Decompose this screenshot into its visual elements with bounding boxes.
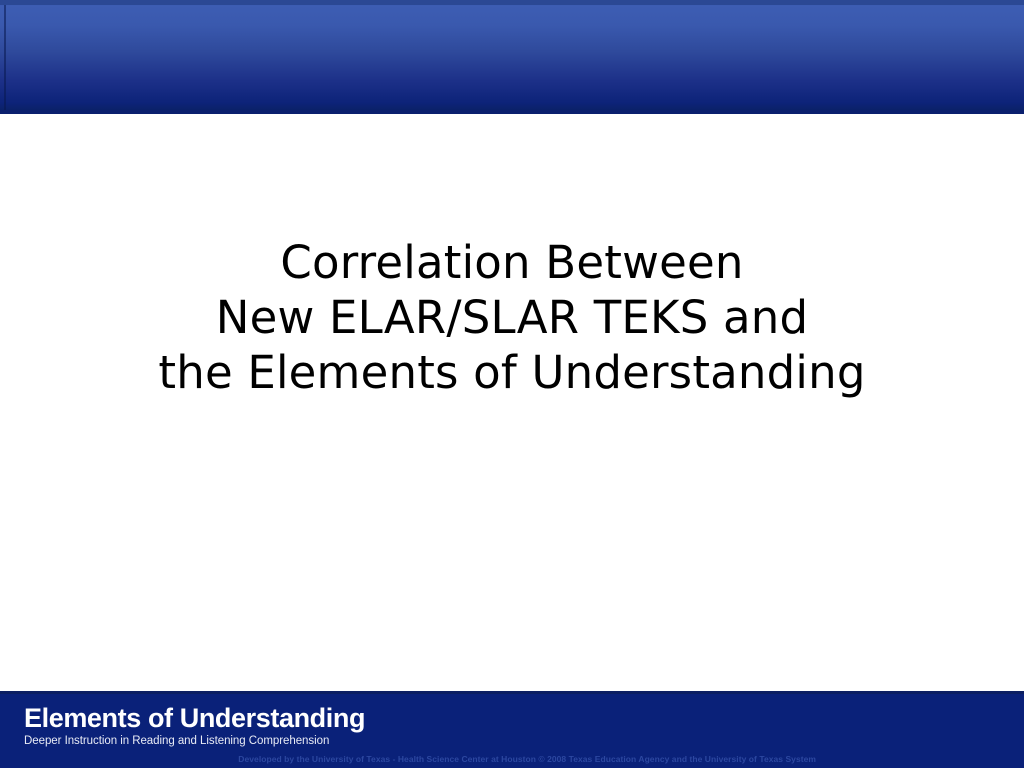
- slide-title-line-3: the Elements of Understanding: [0, 346, 1024, 401]
- slide-footer-band: Elements of Understanding Deeper Instruc…: [0, 691, 1024, 768]
- header-band-left-rule: [4, 5, 6, 114]
- slide-header-band: [0, 0, 1024, 114]
- slide-title-line-1: Correlation Between: [0, 236, 1024, 291]
- footer-band-top-rule: [0, 691, 1024, 694]
- header-band-bottom-rule: [0, 110, 1024, 114]
- program-logo: Elements of Understanding Deeper Instruc…: [24, 705, 365, 748]
- program-logo-title: Elements of Understanding: [24, 705, 365, 732]
- presentation-slide: Correlation Between New ELAR/SLAR TEKS a…: [0, 0, 1024, 768]
- program-logo-subtitle: Deeper Instruction in Reading and Listen…: [24, 735, 365, 748]
- copyright-credit-line: Developed by the University of Texas - H…: [238, 754, 816, 764]
- header-band-top-rule: [0, 0, 1024, 5]
- slide-title: Correlation Between New ELAR/SLAR TEKS a…: [0, 236, 1024, 401]
- slide-title-line-2: New ELAR/SLAR TEKS and: [0, 291, 1024, 346]
